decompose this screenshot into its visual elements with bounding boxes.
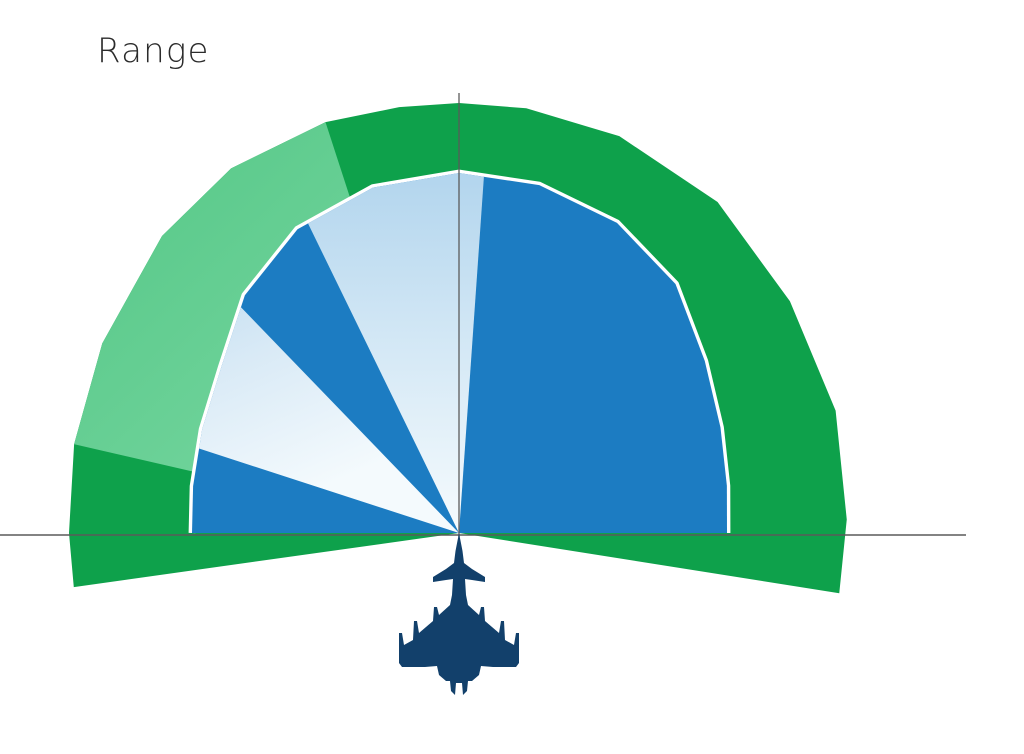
range-diagram: Range <box>0 0 1024 754</box>
jet-body-shape <box>399 533 519 695</box>
polar-range-chart <box>0 0 1024 754</box>
fighter-jet-silhouette <box>399 533 519 695</box>
page-title: Range <box>97 33 210 70</box>
